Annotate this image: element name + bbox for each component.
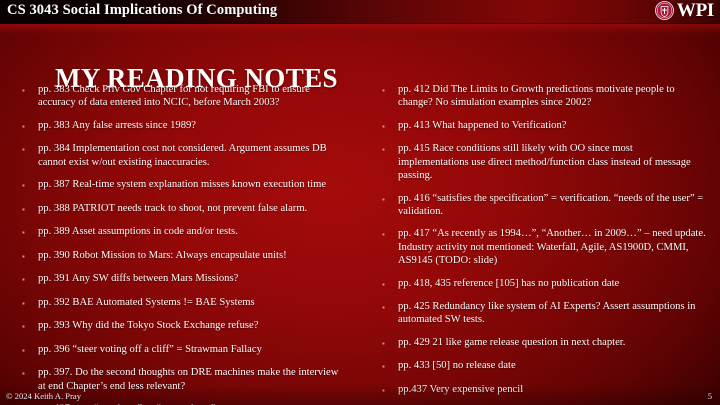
notes-columns: pp. 383 Check Priv Gov Chapter for not r… [0, 83, 720, 383]
bullet-square-icon [22, 202, 38, 216]
bullet-square-icon [22, 119, 38, 133]
list-item-text: pp. 390 Robot Mission to Mars: Always en… [38, 249, 346, 262]
list-item-text: pp. 396 “steer voting off a cliff” = Str… [38, 343, 346, 356]
header-shine-gradient [0, 24, 720, 40]
right-column: pp. 412 Did The Limits to Growth predict… [360, 83, 720, 383]
list-item-text: pp.437 Very expensive pencil [398, 383, 706, 396]
list-item: pp. 389 Asset assumptions in code and/or… [22, 225, 346, 239]
footer-copyright: © 2024 Keith A. Pray [6, 391, 81, 401]
list-item: pp. 396 “steer voting off a cliff” = Str… [22, 343, 346, 357]
bullet-square-icon [382, 227, 398, 241]
list-item-text: pp. 412 Did The Limits to Growth predict… [398, 83, 706, 109]
list-item-text: pp. 389 Asset assumptions in code and/or… [38, 225, 346, 238]
list-item-text: pp. 387 Real-time system explanation mis… [38, 178, 346, 191]
list-item-text: pp. 388 PATRIOT needs track to shoot, no… [38, 202, 346, 215]
bullet-square-icon [22, 272, 38, 286]
bullet-square-icon [382, 142, 398, 156]
bullet-square-icon [22, 249, 38, 263]
left-column: pp. 383 Check Priv Gov Chapter for not r… [0, 83, 360, 383]
list-item: pp. 425 Redundancy like system of AI Exp… [382, 300, 706, 326]
list-item: pp. 415 Race conditions still likely wit… [382, 142, 706, 182]
list-item: pp. 412 Did The Limits to Growth predict… [382, 83, 706, 109]
bullet-square-icon [22, 83, 38, 97]
bullet-square-icon [382, 300, 398, 314]
list-item: pp. 393 Why did the Tokyo Stock Exchange… [22, 319, 346, 333]
course-title: CS 3043 Social Implications Of Computing [7, 2, 277, 19]
list-item: pp. 391 Any SW diffs between Mars Missio… [22, 272, 346, 286]
list-item-text: pp. 384 Implementation cost not consider… [38, 142, 346, 168]
list-item-text: pp. 418, 435 reference [105] has no publ… [398, 277, 706, 290]
bullet-square-icon [382, 359, 398, 373]
list-item: pp. 383 Check Priv Gov Chapter for not r… [22, 83, 346, 109]
list-item-text: pp. 397. Do the second thoughts on DRE m… [38, 366, 346, 392]
wpi-seal-icon [655, 1, 674, 20]
bullet-square-icon [22, 296, 38, 310]
list-item-text: pp. 417 “As recently as 1994…”, “Another… [398, 227, 706, 267]
bullet-square-icon [382, 119, 398, 133]
bullet-square-icon [22, 343, 38, 357]
bullet-square-icon [382, 277, 398, 291]
bullet-square-icon [22, 178, 38, 192]
slide-canvas: CS 3043 Social Implications Of Computing… [0, 0, 720, 405]
bullet-square-icon [382, 83, 398, 97]
bullet-square-icon [382, 383, 398, 397]
bullet-square-icon [382, 192, 398, 206]
bullet-square-icon [22, 142, 38, 156]
list-item: pp. 392 BAE Automated Systems != BAE Sys… [22, 296, 346, 310]
list-item-text: pp. 429 21 like game release question in… [398, 336, 706, 349]
list-item: pp. 416 “satisfies the specification” = … [382, 192, 706, 218]
list-item: pp. 417 “As recently as 1994…”, “Another… [382, 227, 706, 267]
footer-page-number: 5 [708, 391, 712, 401]
list-item: pp. 433 [50] no release date [382, 359, 706, 373]
bullet-square-icon [22, 319, 38, 333]
list-item: pp. 397. Do the second thoughts on DRE m… [22, 366, 346, 392]
list-item-text: pp. 425 Redundancy like system of AI Exp… [398, 300, 706, 326]
list-item-text: pp. 413 What happened to Verification? [398, 119, 706, 132]
list-item: pp. 383 Any false arrests since 1989? [22, 119, 346, 133]
list-item: pp. 418, 435 reference [105] has no publ… [382, 277, 706, 291]
list-item-text: pp. 416 “satisfies the specification” = … [398, 192, 706, 218]
list-item-text: pp. 393 Why did the Tokyo Stock Exchange… [38, 319, 346, 332]
bullet-square-icon [22, 225, 38, 239]
list-item-text: pp. 391 Any SW diffs between Mars Missio… [38, 272, 346, 285]
list-item-text: pp. 392 BAE Automated Systems != BAE Sys… [38, 296, 346, 309]
wpi-logo: WPI [655, 1, 714, 20]
bullet-square-icon [382, 336, 398, 350]
list-item: pp. 387 Real-time system explanation mis… [22, 178, 346, 192]
list-item: pp. 388 PATRIOT needs track to shoot, no… [22, 202, 346, 216]
list-item-text: pp. 433 [50] no release date [398, 359, 706, 372]
list-item: pp. 429 21 like game release question in… [382, 336, 706, 350]
list-item: pp. 390 Robot Mission to Mars: Always en… [22, 249, 346, 263]
list-item: pp. 413 What happened to Verification? [382, 119, 706, 133]
wpi-wordmark: WPI [677, 1, 714, 20]
list-item-text: pp. 415 Race conditions still likely wit… [398, 142, 706, 182]
list-item: pp.437 Very expensive pencil [382, 383, 706, 397]
list-item: pp. 384 Implementation cost not consider… [22, 142, 346, 168]
bullet-square-icon [22, 366, 38, 380]
list-item-text: pp. 383 Any false arrests since 1989? [38, 119, 346, 132]
list-item-text: pp. 383 Check Priv Gov Chapter for not r… [38, 83, 346, 109]
